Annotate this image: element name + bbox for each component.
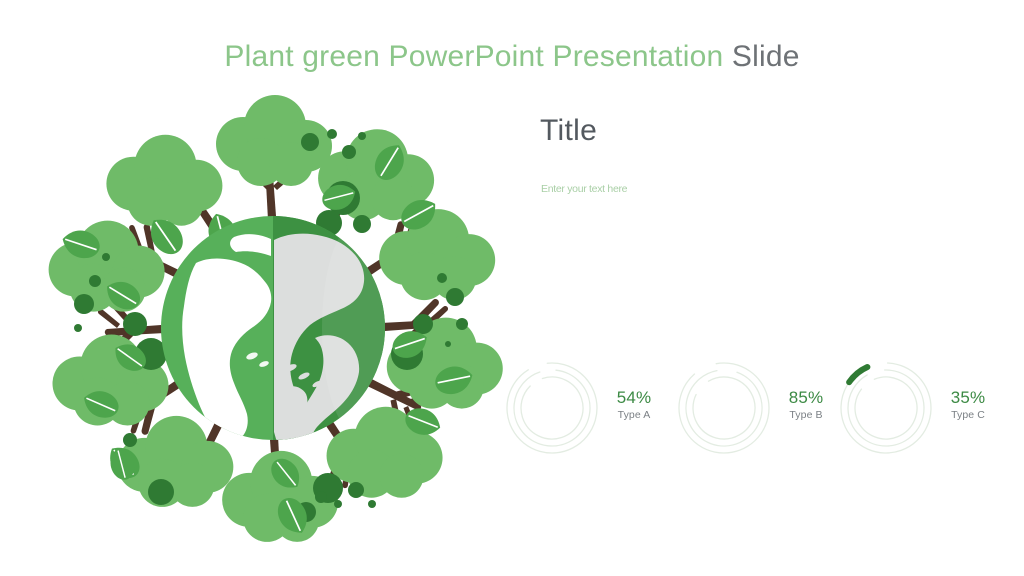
stats-row: 54% Type A 85% Type B 35%	[496, 358, 1008, 458]
stat-labels-type-b: 85% Type B	[774, 388, 838, 423]
page-title-green-text: Plant green PowerPoint Presentation	[224, 40, 732, 73]
donut-rings-type-a	[504, 360, 600, 456]
content-subtext: Enter your text here	[541, 183, 627, 195]
donut-rings-type-c	[838, 360, 934, 456]
stat-labels-type-a: 54% Type A	[602, 388, 666, 423]
donut-chart-type-c	[838, 360, 934, 456]
content-heading: Title	[540, 114, 597, 148]
stat-label-type-b: Type B	[774, 408, 838, 424]
stat-percent-type-b: 85%	[774, 388, 838, 408]
donut-value-arc-type-c	[838, 360, 934, 456]
donut-chart-type-b	[676, 360, 772, 456]
stat-percent-type-a: 54%	[602, 388, 666, 408]
stat-label-type-a: Type A	[602, 408, 666, 424]
stat-labels-type-c: 35% Type C	[936, 388, 1000, 423]
globe-tree-graphic	[38, 92, 508, 554]
page-title-gray-text: Slide	[732, 40, 800, 73]
donut-rings-type-b	[676, 360, 772, 456]
globe-tree-illustration	[38, 92, 508, 554]
stat-item-type-c[interactable]: 35% Type C	[830, 358, 1000, 458]
stat-percent-type-c: 35%	[936, 388, 1000, 408]
stat-item-type-a[interactable]: 54% Type A	[496, 358, 666, 458]
globe-graphic	[161, 210, 398, 450]
stat-item-type-b[interactable]: 85% Type B	[668, 358, 838, 458]
stat-label-type-c: Type C	[936, 408, 1000, 424]
page-title: Plant green PowerPoint Presentation Slid…	[0, 40, 1024, 74]
donut-chart-type-a	[504, 360, 600, 456]
